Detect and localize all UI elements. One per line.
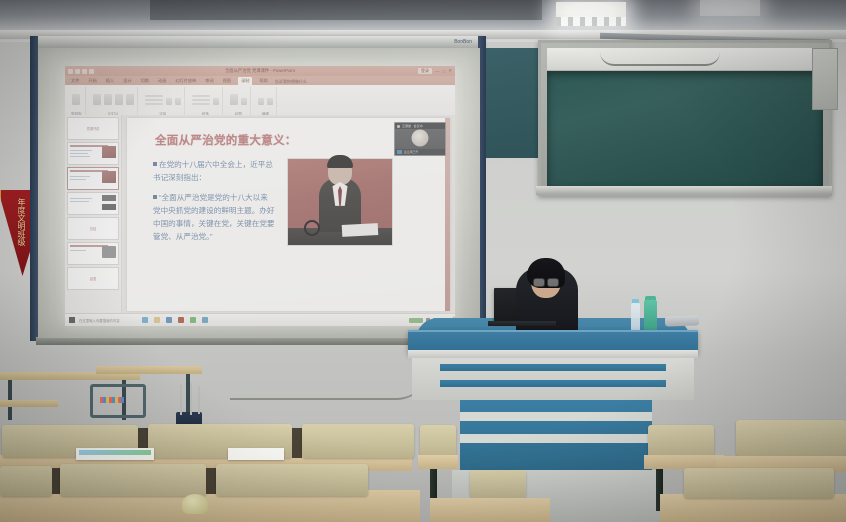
tab-file[interactable]: 文件 xyxy=(69,78,81,85)
ribbon-group-font[interactable]: 字体 xyxy=(142,87,185,117)
undo-icon[interactable] xyxy=(75,69,80,74)
slide-thumbnail[interactable]: 1 党课开讲 xyxy=(67,117,119,140)
ribbon-group-slides[interactable]: 幻灯片 xyxy=(90,87,138,117)
thumbnail-title: 结语 xyxy=(90,276,96,281)
search-icon[interactable] xyxy=(258,98,264,105)
powerpoint-icon[interactable] xyxy=(178,317,184,323)
paste-icon[interactable] xyxy=(72,94,80,105)
student-desk-surface xyxy=(430,498,550,522)
align-icon[interactable] xyxy=(213,98,219,105)
wechat-icon[interactable] xyxy=(190,317,196,323)
thumbnail-title: 党课开讲 xyxy=(87,126,100,131)
slide-body-text: 在党的十八届六中全会上，近平总书记深刻指出： “全面从严治党是党的十八大以来党中… xyxy=(153,158,275,250)
ribbon-group-editing[interactable]: 编辑 xyxy=(255,87,277,117)
tab-insert[interactable]: 插入 xyxy=(104,78,116,85)
layout-icon[interactable] xyxy=(104,94,112,105)
video-status-icon xyxy=(397,125,400,128)
slide-photo xyxy=(287,158,393,246)
thumbnail-title: 总结 xyxy=(90,226,96,231)
student-desk-back xyxy=(470,470,526,498)
thermos xyxy=(644,300,657,332)
ribbon-tab-bar: 文件 开始 插入 设计 切换 动画 幻灯片放映 审阅 视图 录制 帮助 告诉我你… xyxy=(65,76,455,85)
slide-bullet: 在党的十八届六中全会上，近平总书记深刻指出： xyxy=(153,160,273,182)
ceiling-slab xyxy=(150,0,542,20)
video-call-footer: 麦克风已开 xyxy=(395,149,446,155)
minimize-icon[interactable]: — xyxy=(435,69,440,74)
powerpoint-window[interactable]: 全面从严治党 党课课件 - PowerPoint 登录 — □ ✕ 文件 开始 … xyxy=(65,66,455,326)
current-slide[interactable]: 全面从严治党的重大意义： 在党的十八届六中全会上，近平总书记深刻指出： “全面从… xyxy=(127,118,450,311)
slide-bullet: “全面从严治党是党的十八大以来党中央抓党的建设的鲜明主题。办好中国的事情，关键在… xyxy=(153,193,275,241)
slide-editing-area[interactable]: 全面从严治党的重大意义： 在党的十八届六中全会上，近平总书记深刻指出： “全面从… xyxy=(122,115,455,314)
ribbon-group-paragraph[interactable]: 段落 xyxy=(189,87,223,117)
italic-icon[interactable] xyxy=(175,98,181,105)
tab-animations[interactable]: 动画 xyxy=(156,78,168,85)
cup xyxy=(182,494,208,514)
edge-icon[interactable] xyxy=(142,317,148,323)
desk-gap xyxy=(52,468,60,494)
video-call-title: 云课堂 · 会议中 xyxy=(402,124,423,128)
video-call-title-bar: 云课堂 · 会议中 xyxy=(395,123,445,129)
textbook xyxy=(76,448,154,460)
desk-items xyxy=(665,315,699,326)
student-desk-back xyxy=(0,466,52,496)
sign-in-button[interactable]: 登录 xyxy=(418,68,432,74)
document-title: 全面从严治党 党课课件 - PowerPoint xyxy=(225,68,295,74)
chalk-ledge xyxy=(536,186,832,195)
student-desk-back xyxy=(420,425,456,457)
desk-gap xyxy=(292,428,302,458)
podium-front-panel xyxy=(412,358,694,400)
video-call-footer-label: 麦克风已开 xyxy=(404,150,418,154)
tab-view[interactable]: 视图 xyxy=(221,78,233,85)
video-call-window[interactable]: 云课堂 · 会议中 麦克风已开 xyxy=(394,122,446,156)
projector-screen-housing: BonBon xyxy=(36,36,484,48)
projection-screen: 全面从严治党 党课课件 - PowerPoint 登录 — □ ✕ 文件 开始 … xyxy=(38,48,480,338)
folder-icon[interactable] xyxy=(202,317,208,323)
slide-thumbnail-selected[interactable]: 3 xyxy=(67,167,119,190)
tab-design[interactable]: 设计 xyxy=(121,78,133,85)
student-desk-back xyxy=(684,468,834,498)
microphone-icon[interactable] xyxy=(397,150,402,154)
taskbar-search[interactable]: 在这里输入你要搜索的内容 xyxy=(79,318,120,323)
student-desk-surface xyxy=(644,455,724,469)
slideshow-icon[interactable] xyxy=(89,69,94,74)
save-icon[interactable] xyxy=(68,69,73,74)
ceiling-light-secondary xyxy=(700,0,760,16)
mop-handle xyxy=(190,383,192,415)
blackboard-wire xyxy=(600,52,720,66)
slide-thumbnail[interactable]: 4 xyxy=(67,192,119,215)
back-desk-top xyxy=(96,366,202,374)
notebook xyxy=(228,448,284,460)
bullet-marker-icon xyxy=(153,162,157,166)
mop-handle xyxy=(198,386,200,414)
student-desk-back xyxy=(216,464,368,496)
student-desk-back xyxy=(648,425,714,457)
student-desk-back xyxy=(302,424,414,458)
student-desk-back xyxy=(60,464,206,496)
maximize-icon[interactable]: □ xyxy=(443,69,446,74)
floor-cable xyxy=(230,366,430,400)
explorer-icon[interactable] xyxy=(154,317,160,323)
tray-widget[interactable] xyxy=(409,318,423,323)
tab-transitions[interactable]: 切换 xyxy=(139,78,151,85)
ceiling-light xyxy=(556,2,626,26)
slide-thumbnail[interactable]: 5 总结 xyxy=(67,217,119,240)
arrange-icon[interactable] xyxy=(241,98,247,105)
chair-sticker xyxy=(100,397,124,403)
desk-gap xyxy=(206,468,216,494)
tab-review[interactable]: 审阅 xyxy=(203,78,215,85)
tab-record[interactable]: 录制 xyxy=(238,77,252,85)
bullet-marker-icon xyxy=(153,195,157,199)
start-button-icon[interactable] xyxy=(69,317,75,323)
windows-taskbar[interactable]: 在这里输入你要搜索的内容 9:41 2021/4/8 xyxy=(65,313,455,326)
slide-thumbnail[interactable]: 2 xyxy=(67,142,119,165)
blackboard-side-panel xyxy=(478,48,542,158)
powerpoint-body: 1 党课开讲 2 3 xyxy=(65,115,455,314)
water-bottle xyxy=(631,303,640,332)
replace-icon[interactable] xyxy=(267,98,273,105)
mail-icon[interactable] xyxy=(166,317,172,323)
student-desk-surface-front xyxy=(660,494,846,522)
student-desk-surface xyxy=(418,455,458,469)
slide-thumbnail[interactable]: 7 结语 xyxy=(67,267,119,290)
shapes-icon[interactable] xyxy=(230,94,238,105)
redo-icon[interactable] xyxy=(82,69,87,74)
avatar xyxy=(412,129,429,146)
ribbon-group-drawing[interactable]: 绘图 xyxy=(227,87,251,117)
ribbon-group-clipboard[interactable]: 剪贴板 xyxy=(68,87,86,117)
podium-lower-panel xyxy=(460,400,652,470)
wall-control-box xyxy=(812,48,838,110)
laptop-base xyxy=(488,321,556,326)
slide-thumbnail-panel[interactable]: 1 党课开讲 2 3 xyxy=(65,115,122,314)
back-desk-top xyxy=(0,400,58,407)
screen-brand-label: BonBon xyxy=(454,39,472,45)
tab-help[interactable]: 帮助 xyxy=(257,78,269,85)
slide-thumbnail[interactable]: 6 xyxy=(67,242,119,265)
close-icon[interactable]: ✕ xyxy=(448,68,452,74)
new-slide-icon[interactable] xyxy=(93,94,101,105)
screen-rail-left xyxy=(30,36,38,341)
tab-home[interactable]: 开始 xyxy=(86,78,98,85)
slide-title: 全面从严治党的重大意义： xyxy=(155,132,297,148)
classroom-scene: 年度文明班级 07 13 19 25 31 BonBon 全面从严治党 党课课件… xyxy=(0,0,846,522)
mop-handle xyxy=(180,385,182,415)
student-desk-back xyxy=(736,420,846,456)
reset-icon[interactable] xyxy=(115,94,123,105)
section-icon[interactable] xyxy=(126,94,134,105)
blackboard-surface xyxy=(547,71,823,187)
bold-icon[interactable] xyxy=(166,98,172,105)
powerpoint-title-bar: 全面从严治党 党课课件 - PowerPoint 登录 — □ ✕ xyxy=(65,66,455,76)
tab-slideshow[interactable]: 幻灯片放映 xyxy=(173,78,198,85)
glasses-icon xyxy=(533,278,559,285)
